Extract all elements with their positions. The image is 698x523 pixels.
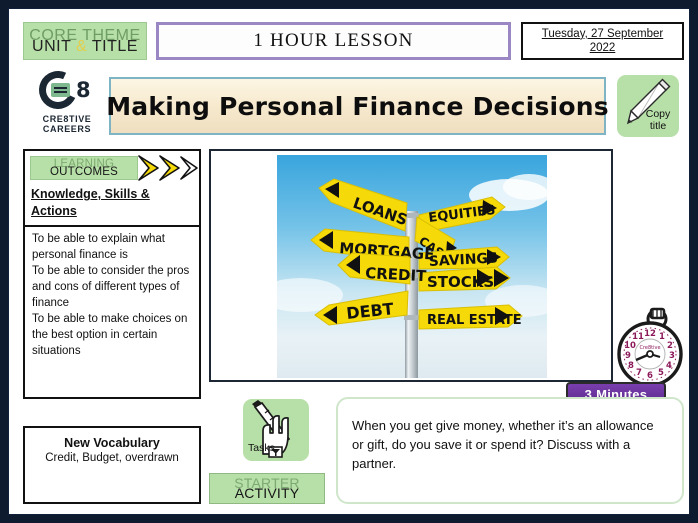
sign-loans: LOANS [319,179,410,231]
svg-text:DEBT: DEBT [345,299,394,323]
activity-text-box: When you get give money, whether it’s an… [336,397,684,504]
starter-activity-badge: STARTER ACTIVITY [209,473,325,504]
slide-frame: CORE THEME UNIT & TITLE 1 HOUR LESSON Tu… [0,0,698,523]
svg-text:11: 11 [632,332,644,342]
chevron-right-icon [138,155,200,181]
svg-text:6: 6 [647,371,653,381]
svg-text:REAL ESTATE: REAL ESTATE [427,313,522,328]
signpost-image-panel: EQUITIES CASH SAVINGS STOCKS [209,149,613,382]
learning-outcome-item: To be able to consider the pros and cons… [32,263,192,311]
starter-activity-line2: ACTIVITY [235,487,300,500]
stopwatch-icon: 12 1 2 3 4 5 6 7 8 9 10 11 Cre8tive [613,305,691,389]
core-theme-unit: UNIT [32,38,71,55]
copy-title-label-line2: title [642,120,674,132]
sign-stocks: STOCKS [419,267,510,291]
learning-outcomes-list: To be able to explain what personal fina… [32,231,192,360]
signpost-illustration: EQUITIES CASH SAVINGS STOCKS [277,155,547,378]
vocabulary-panel: New Vocabulary Credit, Budget, overdrawn [23,426,201,504]
signpost-photo: EQUITIES CASH SAVINGS STOCKS [277,155,547,378]
date-line-1: Tuesday, 27 September [542,27,663,41]
brand-logo: 8 CRE8TIVE CAREERS [25,71,109,139]
learning-outcomes-panel: LEARNING OUTCOMES Knowledge, Skills & Ac… [23,149,201,399]
lesson-duration-box: 1 HOUR LESSON [156,22,511,60]
tasks-button[interactable]: Tasks [243,399,309,461]
svg-text:CREDIT: CREDIT [365,264,428,285]
copy-title-label-line1: Copy [642,108,674,120]
logo-chip-icon [51,83,70,97]
lesson-title-banner: Making Personal Finance Decisions [109,77,606,135]
svg-text:STOCKS: STOCKS [427,273,494,291]
svg-text:1: 1 [659,332,665,342]
svg-text:4: 4 [666,361,672,371]
vocabulary-words: Credit, Budget, overdrawn [25,452,199,464]
copy-title-label: Copy title [642,108,674,132]
svg-text:5: 5 [658,368,664,378]
svg-text:10: 10 [624,341,636,351]
core-theme-ampersand: & [76,38,87,55]
date-line-2: 2022 [590,41,616,55]
logo-wordmark-line1: CRE8TIVE [43,114,92,124]
svg-text:3: 3 [669,351,675,361]
svg-text:7: 7 [636,368,642,378]
learning-outcomes-header: LEARNING OUTCOMES [28,154,196,182]
logo-number: 8 [76,78,91,102]
lesson-title: Making Personal Finance Decisions [106,92,609,121]
svg-text:2: 2 [667,341,673,351]
date-box: Tuesday, 27 September 2022 [521,22,684,60]
logo-wordmark: CRE8TIVE CAREERS [43,114,92,135]
core-theme-title: TITLE [92,38,138,55]
vocabulary-title: New Vocabulary [25,436,199,450]
logo-mark-icon: 8 [37,71,97,113]
core-theme-badge: CORE THEME UNIT & TITLE [23,22,147,60]
activity-text: When you get give money, whether it’s an… [338,399,682,474]
lesson-duration-label: 1 HOUR LESSON [253,30,413,52]
logo-wordmark-line2: CAREERS [43,124,92,134]
copy-title-button[interactable]: Copy title [617,75,679,137]
svg-text:12: 12 [644,329,656,339]
learning-outcomes-badge: LEARNING OUTCOMES [30,156,138,180]
learning-outcomes-divider [25,225,199,227]
tasks-button-label: Tasks [248,442,275,454]
learning-outcome-item: To be able to explain what personal fina… [32,231,192,263]
slide-canvas: CORE THEME UNIT & TITLE 1 HOUR LESSON Tu… [8,8,690,515]
sign-real-estate: REAL ESTATE [419,305,522,329]
core-theme-label-line2: UNIT & TITLE [32,39,138,54]
learning-outcome-item: To be able to make choices on the best o… [32,311,192,359]
learning-outcomes-badge-line2: OUTCOMES [50,167,118,177]
svg-text:9: 9 [625,351,631,361]
learning-outcomes-subtitle: Knowledge, Skills & Actions [31,186,193,220]
svg-text:8: 8 [628,361,634,371]
